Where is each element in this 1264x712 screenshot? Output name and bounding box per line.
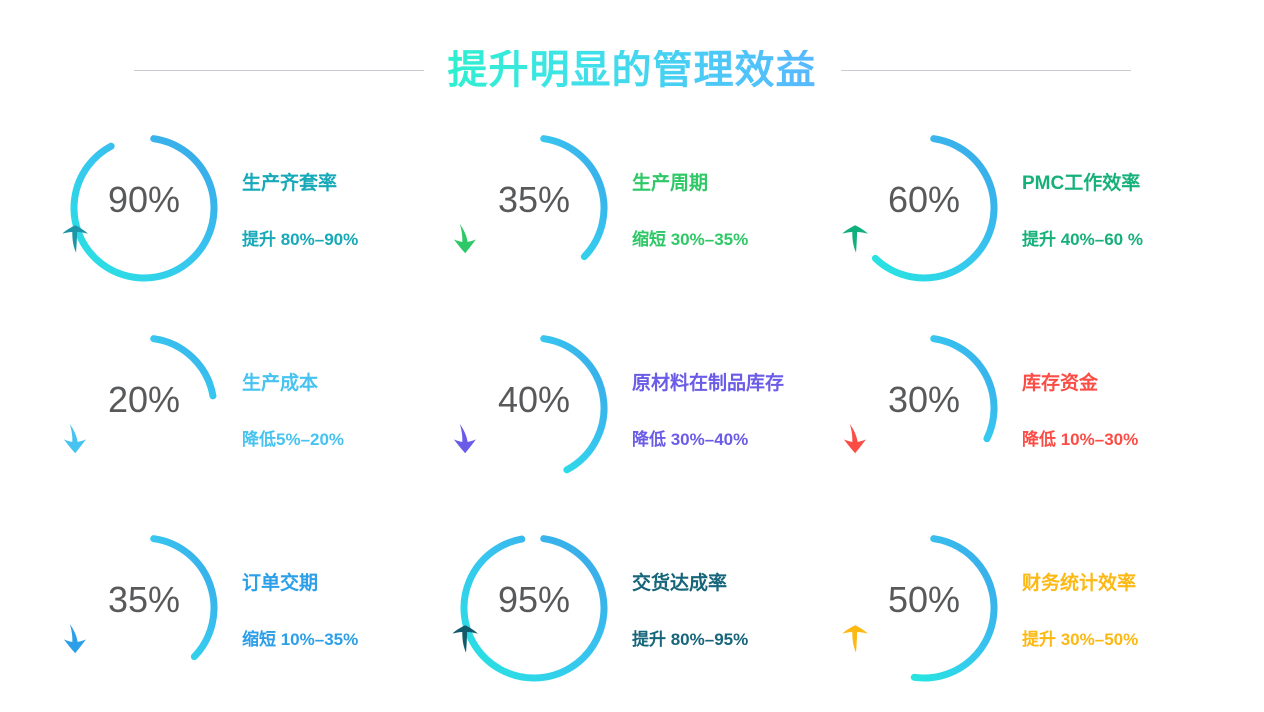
- arrow-down-glyph: [450, 222, 480, 256]
- arrow-up-glyph: [60, 222, 90, 256]
- metric-card-order-lead-time: 35% 订单交期 缩短 10%–35%: [60, 512, 450, 712]
- arrow-down-glyph: [60, 622, 90, 656]
- metric-labels: 生产齐套率 提升 80%–90%: [242, 173, 358, 250]
- metric-subtitle: 缩短 30%–35%: [632, 230, 748, 250]
- metric-labels: 生产周期 缩短 30%–35%: [632, 173, 748, 250]
- metric-title: 订单交期: [242, 573, 318, 596]
- metric-title: 原材料在制品库存: [632, 373, 784, 396]
- gauge-ring: 60%: [840, 122, 1008, 302]
- metric-subtitle: 提升 30%–50%: [1022, 630, 1138, 650]
- header-divider-left: [134, 70, 424, 71]
- metric-title: 财务统计效率: [1022, 573, 1136, 596]
- arrow-up-glyph: [450, 622, 480, 656]
- gauge-value: 60%: [840, 182, 1008, 218]
- metric-subtitle: 降低5%–20%: [242, 430, 344, 450]
- metric-subtitle: 提升 80%–90%: [242, 230, 358, 250]
- metric-card-raw-material-wip-inventory: 40% 原材料在制品库存 降低 30%–40%: [450, 312, 840, 512]
- metric-labels: 原材料在制品库存 降低 30%–40%: [632, 373, 784, 450]
- metric-title: 生产周期: [632, 173, 708, 196]
- metric-subtitle: 降低 10%–30%: [1022, 430, 1138, 450]
- metric-subtitle: 提升 80%–95%: [632, 630, 748, 650]
- page-title: 提升明显的管理效益: [448, 50, 817, 90]
- metric-card-production-kitting-rate: 90% 生产齐套率 提升 80%–90%: [60, 112, 450, 312]
- metrics-grid: 90% 生产齐套率 提升 80%–90% 35%: [60, 112, 1210, 712]
- gauge-value: 50%: [840, 582, 1008, 618]
- metric-subtitle: 降低 30%–40%: [632, 430, 748, 450]
- metric-labels: 订单交期 缩短 10%–35%: [242, 573, 358, 650]
- gauge-ring: 30%: [840, 322, 1008, 502]
- metric-card-pmc-work-efficiency: 60% PMC工作效率 提升 40%–60 %: [840, 112, 1230, 312]
- metric-card-production-cost: 20% 生产成本 降低5%–20%: [60, 312, 450, 512]
- metric-card-delivery-achievement-rate: 95% 交货达成率 提升 80%–95%: [450, 512, 840, 712]
- gauge-value: 40%: [450, 382, 618, 418]
- metric-subtitle: 缩短 10%–35%: [242, 630, 358, 650]
- metric-title: 库存资金: [1022, 373, 1098, 396]
- gauge-ring: 20%: [60, 322, 228, 502]
- gauge-value: 90%: [60, 182, 228, 218]
- gauge-value: 35%: [60, 582, 228, 618]
- metric-card-finance-statistics-efficiency: 50% 财务统计效率 提升 30%–50%: [840, 512, 1230, 712]
- gauge-value: 30%: [840, 382, 1008, 418]
- header-divider-right: [841, 70, 1131, 71]
- gauge-ring: 90%: [60, 122, 228, 302]
- metric-title: PMC工作效率: [1022, 173, 1140, 196]
- arrow-up-glyph: [840, 622, 870, 656]
- gauge-ring: 95%: [450, 522, 618, 702]
- arrow-down-glyph: [840, 422, 870, 456]
- gauge-value: 20%: [60, 382, 228, 418]
- metric-subtitle: 提升 40%–60 %: [1022, 230, 1143, 250]
- metric-title: 交货达成率: [632, 573, 727, 596]
- metric-card-production-cycle: 35% 生产周期 缩短 30%–35%: [450, 112, 840, 312]
- gauge-ring: 50%: [840, 522, 1008, 702]
- metric-labels: 生产成本 降低5%–20%: [242, 373, 344, 450]
- metric-title: 生产齐套率: [242, 173, 337, 196]
- metric-labels: 库存资金 降低 10%–30%: [1022, 373, 1138, 450]
- arrow-down-glyph: [450, 422, 480, 456]
- gauge-ring: 40%: [450, 322, 618, 502]
- metric-labels: 交货达成率 提升 80%–95%: [632, 573, 748, 650]
- page-header: 提升明显的管理效益: [0, 42, 1264, 98]
- metric-title: 生产成本: [242, 373, 318, 396]
- gauge-value: 35%: [450, 182, 618, 218]
- gauge-ring: 35%: [60, 522, 228, 702]
- gauge-value: 95%: [450, 582, 618, 618]
- metric-card-inventory-capital: 30% 库存资金 降低 10%–30%: [840, 312, 1230, 512]
- arrow-up-glyph: [840, 222, 870, 256]
- metric-labels: 财务统计效率 提升 30%–50%: [1022, 573, 1138, 650]
- gauge-ring: 35%: [450, 122, 618, 302]
- arrow-down-glyph: [60, 422, 90, 456]
- metric-labels: PMC工作效率 提升 40%–60 %: [1022, 173, 1143, 250]
